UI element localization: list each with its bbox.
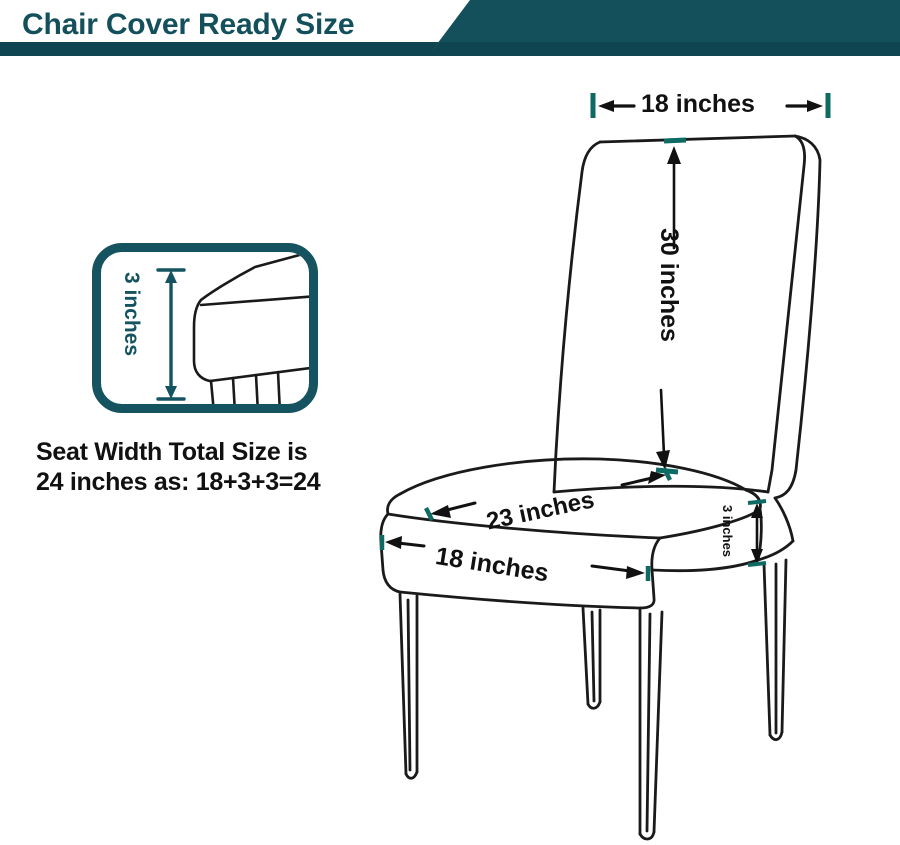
dim-label-back-width: 18 inches: [641, 90, 755, 119]
seat-apron-back-right: [775, 498, 793, 541]
dim-label-apron-height: 3 inches: [720, 505, 735, 557]
dim-label-back-height: 30 inches: [654, 228, 683, 342]
leg-front-left-foot: [406, 772, 417, 778]
leg-back-middle-shade: [592, 612, 594, 701]
leg-front-right-inner: [654, 612, 662, 832]
leg-front-left-outer: [400, 594, 406, 774]
seat-apron-right-bottom: [652, 560, 758, 571]
chair-size-infographic: Chair Cover Ready Size: [0, 0, 900, 845]
seat-apron-back-seam: [758, 541, 793, 560]
leg-front-right-shade: [647, 614, 650, 831]
leg-front-right-foot: [640, 832, 654, 839]
leg-front-left-shade: [408, 600, 410, 770]
backrest-top-edge: [600, 136, 795, 142]
backrest-side-panel: [775, 136, 820, 498]
leg-back-right-outer: [764, 564, 770, 735]
leg-back-middle-foot: [588, 702, 600, 708]
seat-apron-left: [381, 514, 400, 592]
leg-back-middle-outer: [583, 608, 588, 704]
leg-back-right-inner: [782, 560, 786, 732]
backrest-left-edge: [554, 142, 600, 492]
seat-top-left-corner: [388, 494, 401, 514]
seat-apron-front-bottom: [400, 592, 640, 608]
seat-top-right-edge: [660, 490, 760, 538]
chair-line-drawing: [0, 0, 900, 845]
seat-top-back-edge: [400, 459, 746, 494]
